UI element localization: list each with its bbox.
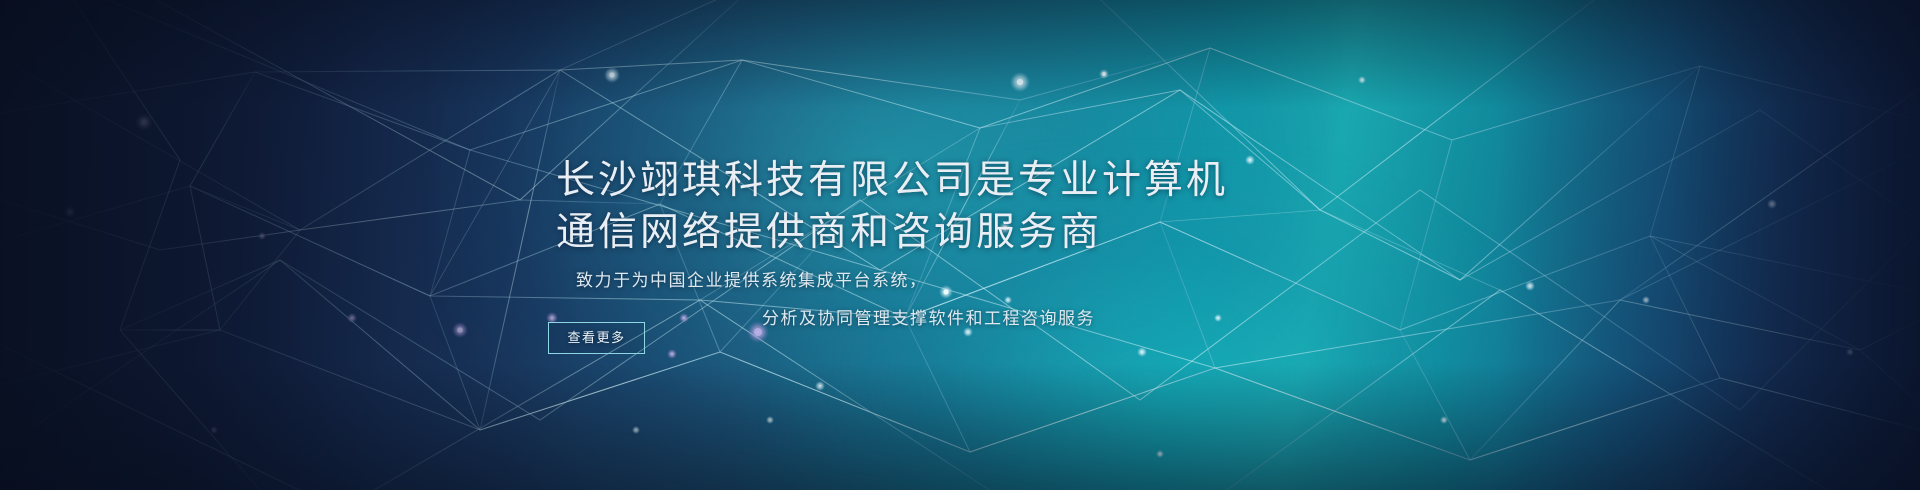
banner-subtitle: 致力于为中国企业提供系统集成平台系统， 分析及协同管理支撑软件和工程咨询服务 xyxy=(576,262,1576,338)
subtitle-line-1: 致力于为中国企业提供系统集成平台系统， xyxy=(576,262,1576,300)
headline-line-1: 长沙翊琪科技有限公司是专业计算机 xyxy=(556,155,1456,207)
view-more-button[interactable]: 查看更多 xyxy=(548,322,645,354)
headline-line-2: 通信网络提供商和咨询服务商 xyxy=(556,207,1456,259)
hero-banner: 长沙翊琪科技有限公司是专业计算机 通信网络提供商和咨询服务商 致力于为中国企业提… xyxy=(0,0,1920,490)
banner-content: 长沙翊琪科技有限公司是专业计算机 通信网络提供商和咨询服务商 致力于为中国企业提… xyxy=(0,0,1920,490)
banner-headline: 长沙翊琪科技有限公司是专业计算机 通信网络提供商和咨询服务商 xyxy=(556,155,1456,259)
subtitle-line-2: 分析及协同管理支撑软件和工程咨询服务 xyxy=(576,300,1576,338)
